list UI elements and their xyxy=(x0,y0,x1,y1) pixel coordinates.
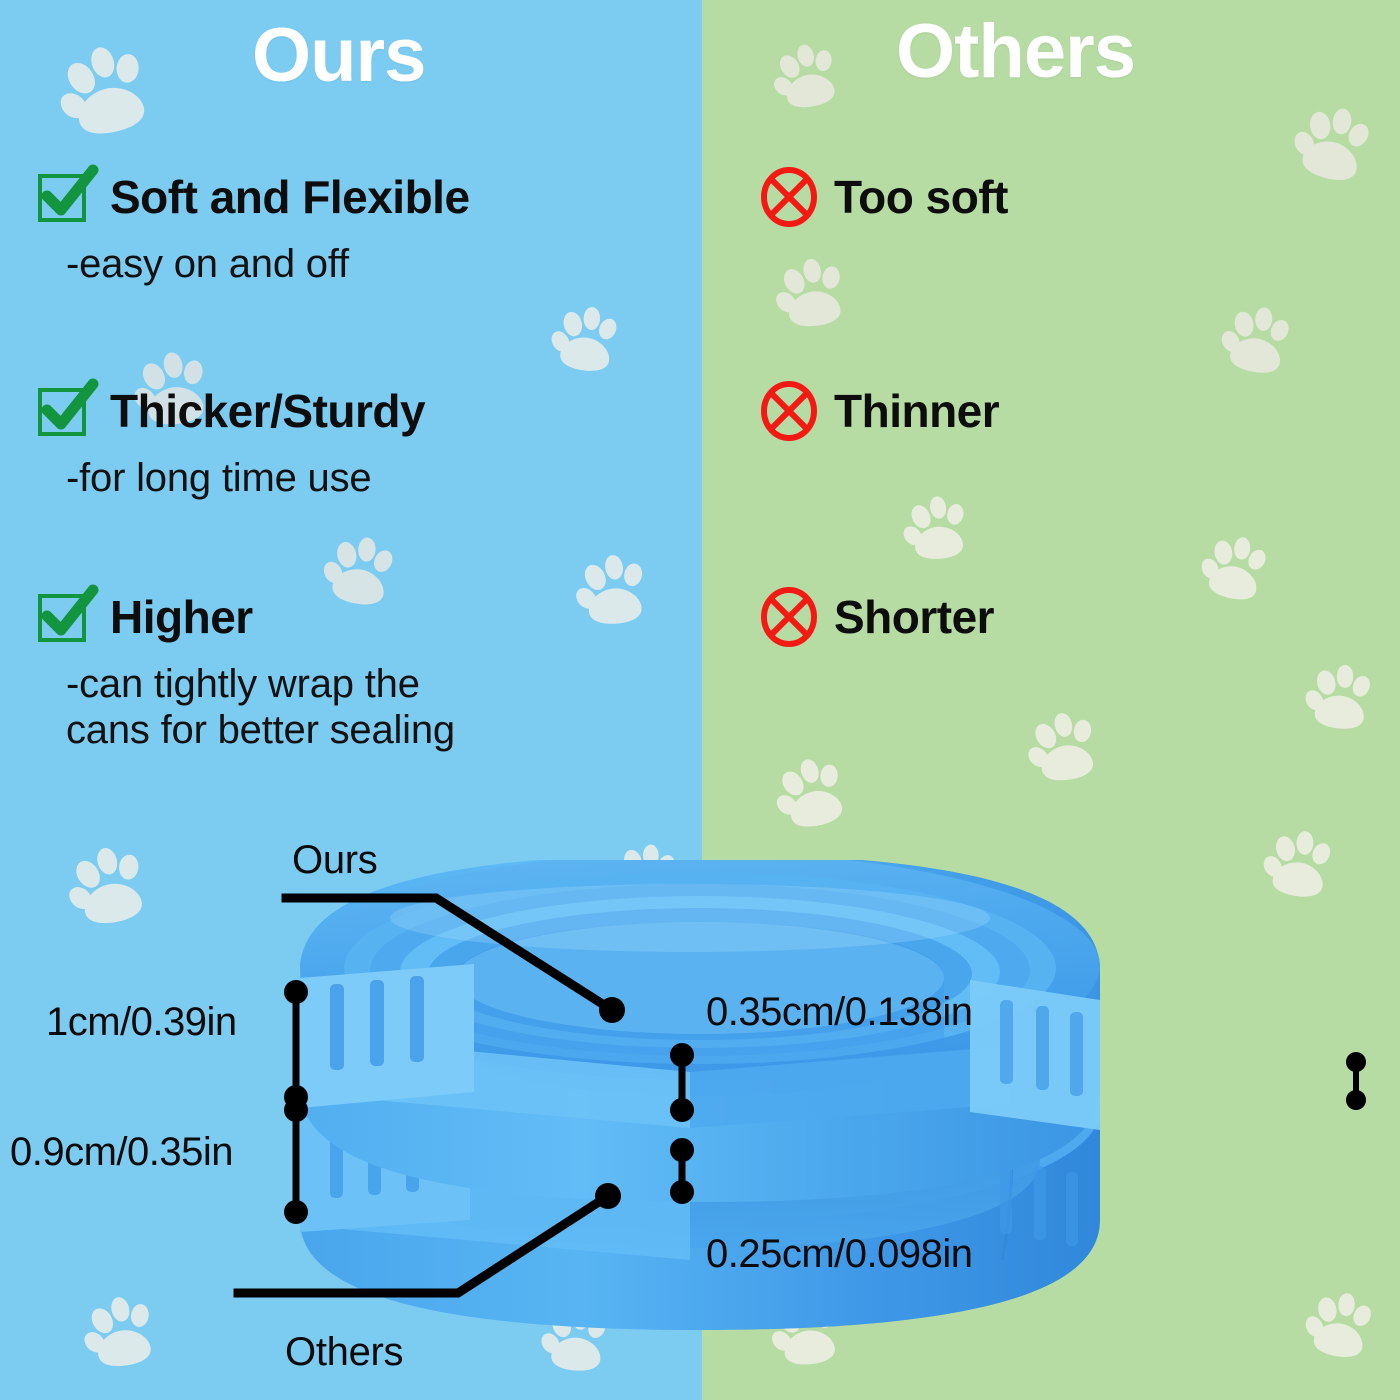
check-box-icon xyxy=(36,168,94,226)
paw-print-icon xyxy=(895,487,980,572)
column-title-ours: Ours xyxy=(252,18,425,94)
feature-row-others-2: Shorter xyxy=(760,588,994,646)
feature-title: Thicker/Sturdy xyxy=(110,388,425,434)
feature-row-ours-1: Thicker/Sturdy -for long time use xyxy=(36,382,425,502)
paw-print-icon xyxy=(762,744,864,846)
feature-row-ours-0: Soft and Flexible -easy on and off xyxy=(36,168,470,288)
infographic-canvas: Ours Others Soft and Flexible -easy on a… xyxy=(0,0,1400,1400)
circle-x-icon xyxy=(760,168,818,226)
paw-print-icon xyxy=(1016,700,1113,797)
feature-subtitle: -easy on and off xyxy=(66,242,470,288)
dimension-thickness-upper: 0.35cm/0.138in xyxy=(706,990,973,1035)
paw-print-icon xyxy=(567,545,661,639)
circle-x-icon xyxy=(760,588,818,646)
paw-print-icon xyxy=(766,248,861,343)
feature-row-others-0: Too soft xyxy=(760,168,1008,226)
check-box-icon xyxy=(36,382,94,440)
feature-title: Too soft xyxy=(834,174,1008,220)
feature-row-others-1: Thinner xyxy=(760,382,999,440)
feature-title: Soft and Flexible xyxy=(110,174,470,220)
paw-print-icon xyxy=(42,28,172,158)
check-box-icon xyxy=(36,588,94,646)
dimension-thickness-lower: 0.25cm/0.098in xyxy=(706,1232,973,1277)
circle-x-icon xyxy=(760,382,818,440)
feature-subtitle: -for long time use xyxy=(66,456,425,502)
feature-title: Thinner xyxy=(834,388,999,434)
paw-print-icon xyxy=(1296,654,1386,744)
feature-title: Shorter xyxy=(834,594,994,640)
paw-print-icon xyxy=(762,32,855,125)
column-title-others: Others xyxy=(896,14,1135,90)
feature-title: Higher xyxy=(110,594,253,640)
paw-print-icon xyxy=(541,295,634,388)
dimension-height-upper: 1cm/0.39in xyxy=(46,1000,237,1045)
feature-subtitle: -can tightly wrap the cans for better se… xyxy=(66,662,455,753)
paw-print-icon xyxy=(1209,293,1306,390)
feature-row-ours-2: Higher -can tightly wrap the cans for be… xyxy=(36,588,455,753)
dimension-height-lower: 0.9cm/0.35in xyxy=(10,1130,233,1175)
paw-print-icon xyxy=(1189,523,1284,618)
callout-label-others: Others xyxy=(285,1330,403,1375)
callout-label-ours: Ours xyxy=(292,838,377,883)
